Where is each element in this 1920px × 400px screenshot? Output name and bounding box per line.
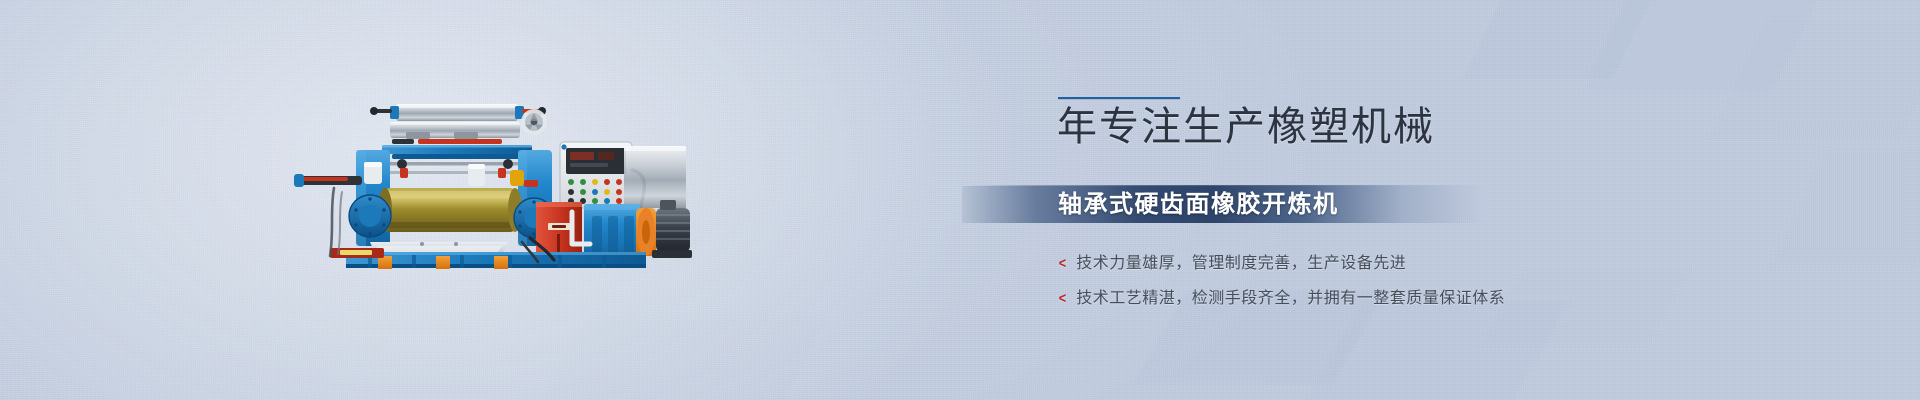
title-rule — [1058, 97, 1180, 99]
page-title: 年专注生产橡塑机械 — [1057, 104, 1435, 150]
chevron-left-icon: < — [1059, 255, 1067, 272]
banner-content: 年专注生产橡塑机械 轴承式硬齿面橡胶开炼机 <技术力量雄厚，管理制度完善，生产设… — [0, 0, 1920, 400]
feature-bullet: <技术力量雄厚，管理制度完善，生产设备先进 — [1058, 249, 1406, 273]
feature-bullet-text: 技术力量雄厚，管理制度完善，生产设备先进 — [1076, 255, 1406, 272]
promo-banner: 年专注生产橡塑机械 轴承式硬齿面橡胶开炼机 <技术力量雄厚，管理制度完善，生产设… — [0, 0, 1920, 400]
chevron-left-icon: < — [1059, 290, 1067, 307]
feature-bullet: <技术工艺精湛，检测手段齐全，并拥有一整套质量保证体系 — [1058, 284, 1505, 308]
product-subtitle: 轴承式硬齿面橡胶开炼机 — [1058, 186, 1339, 224]
feature-bullet-text: 技术工艺精湛，检测手段齐全，并拥有一整套质量保证体系 — [1076, 290, 1505, 307]
